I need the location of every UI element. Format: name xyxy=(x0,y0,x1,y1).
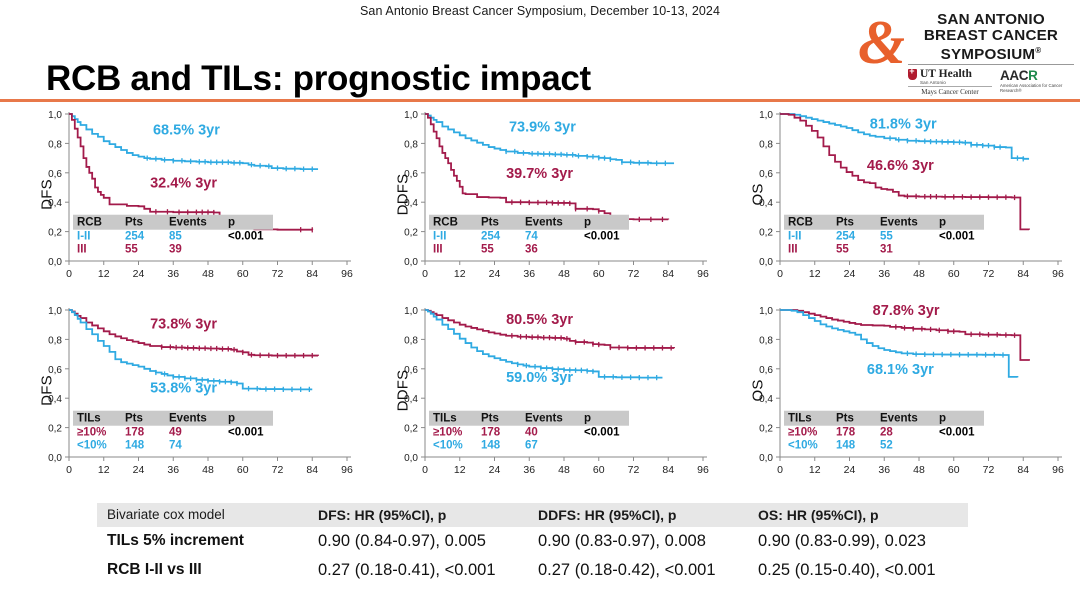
y-tick-label: 0,0 xyxy=(759,453,773,464)
km-plot-ddfs-rcb: 1,00,80,60,40,20,00122436486072849673.9%… xyxy=(403,106,713,296)
y-tick-label: 0,8 xyxy=(48,335,62,346)
x-tick-label: 12 xyxy=(454,464,466,476)
x-tick-label: 48 xyxy=(558,464,570,476)
logo-line-2: BREAST CANCER xyxy=(908,28,1074,44)
header-divider xyxy=(0,99,1080,102)
y-tick-label: 0,2 xyxy=(759,228,773,239)
annotation-3yr-rate: 87.8% 3yr xyxy=(873,303,940,319)
y-tick-label: 0,8 xyxy=(759,139,773,150)
x-tick-label: 36 xyxy=(523,464,535,476)
legend-header-p: p xyxy=(584,217,591,229)
y-tick-label: 0,2 xyxy=(759,424,773,435)
sabcs-logo-text: SAN ANTONIO BREAST CANCER SYMPOSIUM® xyxy=(908,12,1074,63)
legend-cell: 67 xyxy=(525,440,538,452)
legend-cell: <10% xyxy=(788,440,818,452)
sabcs-logo-mark: & xyxy=(858,12,904,78)
legend-header-pts: Pts xyxy=(836,413,854,425)
bivariate-cox-table: Bivariate cox model DFS: HR (95%CI), p D… xyxy=(97,503,968,585)
legend-cell: 148 xyxy=(125,440,145,452)
legend-cell: 178 xyxy=(125,427,145,439)
legend-cell: I-II xyxy=(433,231,446,243)
y-tick-label: 0,0 xyxy=(48,453,62,464)
legend-header-rcb: RCB xyxy=(433,217,458,229)
aacr-logo: AACR American Association for Cancer Res… xyxy=(1000,68,1072,94)
legend-header-pts: Pts xyxy=(836,217,854,229)
legend-cell: 178 xyxy=(481,427,501,439)
col-header-os: OS: HR (95%CI), p xyxy=(748,503,968,527)
x-tick-label: 48 xyxy=(558,268,570,280)
x-tick-label: 60 xyxy=(948,464,960,476)
legend-header-pts: Pts xyxy=(481,217,499,229)
legend-cell: 31 xyxy=(880,244,893,256)
legend-pvalue: <0.001 xyxy=(228,231,264,243)
col-header-model: Bivariate cox model xyxy=(97,503,308,527)
y-tick-label: 1,0 xyxy=(759,306,773,317)
row-label-tils: TILs 5% increment xyxy=(97,527,308,556)
x-tick-label: 24 xyxy=(489,268,501,280)
logo-partners: UT Health San Antonio Mays Cancer Center… xyxy=(908,64,1074,96)
x-tick-label: 96 xyxy=(697,268,709,280)
x-tick-label: 60 xyxy=(237,464,249,476)
legend-header-rcb: RCB xyxy=(788,217,813,229)
x-tick-label: 60 xyxy=(237,268,249,280)
legend-pvalue: <0.001 xyxy=(939,427,975,439)
table-header-row: Bivariate cox model DFS: HR (95%CI), p D… xyxy=(97,503,968,527)
annotation-3yr-rate: 68.1% 3yr xyxy=(867,362,934,378)
km-panel-ddfs-tils: 1,00,80,60,40,20,00122436486072849680.5%… xyxy=(403,302,713,492)
x-tick-label: 72 xyxy=(272,464,284,476)
legend-header-pts: Pts xyxy=(481,413,499,425)
legend-cell: 52 xyxy=(880,440,893,452)
y-tick-label: 0,0 xyxy=(759,257,773,268)
ut-health-center: Mays Cancer Center xyxy=(908,86,992,96)
legend-cell: III xyxy=(788,244,798,256)
cell-tils-dfs: 0.90 (0.84-0.97), 0.005 xyxy=(308,527,528,556)
legend-cell: ≥10% xyxy=(433,427,462,439)
annotation-3yr-rate: 39.7% 3yr xyxy=(506,166,573,182)
x-tick-label: 0 xyxy=(422,268,428,280)
annotation-3yr-rate: 53.8% 3yr xyxy=(150,380,217,396)
aacr-name: AACR xyxy=(1000,68,1072,83)
y-tick-label: 1,0 xyxy=(404,110,418,121)
x-tick-label: 84 xyxy=(306,464,318,476)
legend-header-pts: Pts xyxy=(125,217,143,229)
x-tick-label: 84 xyxy=(1017,268,1029,280)
aacr-tagline: American Association for Cancer Research… xyxy=(1000,83,1072,94)
legend-cell: 254 xyxy=(125,231,145,243)
x-tick-label: 12 xyxy=(454,268,466,280)
legend-cell: 74 xyxy=(525,231,538,243)
legend-header-p: p xyxy=(939,413,946,425)
y-tick-label: 0,0 xyxy=(404,257,418,268)
x-tick-label: 96 xyxy=(1052,268,1064,280)
km-panel-dfs-rcb: 1,00,80,60,40,20,00122436486072849668.5%… xyxy=(47,106,357,296)
y-tick-label: 0,2 xyxy=(48,228,62,239)
x-tick-label: 84 xyxy=(662,464,674,476)
legend-cell: 55 xyxy=(481,244,494,256)
legend-header-tils: TILs xyxy=(433,413,457,425)
y-axis-label-os-tils: OS xyxy=(750,361,767,421)
ut-health-name: UT Health xyxy=(920,68,972,80)
annotation-3yr-rate: 68.5% 3yr xyxy=(153,123,220,139)
x-tick-label: 0 xyxy=(66,268,72,280)
km-panel-os-tils: 1,00,80,60,40,20,00122436486072849687.8%… xyxy=(758,302,1068,492)
x-tick-label: 36 xyxy=(523,268,535,280)
y-tick-label: 1,0 xyxy=(48,110,62,121)
annotation-3yr-rate: 46.6% 3yr xyxy=(867,158,934,174)
legend-header-tils: TILs xyxy=(788,413,812,425)
km-plot-os-rcb: 1,00,80,60,40,20,00122436486072849681.8%… xyxy=(758,106,1068,296)
y-axis-label-ddfs-rcb: DDFS xyxy=(395,165,412,225)
x-tick-label: 96 xyxy=(697,464,709,476)
table-row: RCB I-II vs III 0.27 (0.18-0.41), <0.001… xyxy=(97,556,968,585)
legend-pvalue: <0.001 xyxy=(584,231,620,243)
legend-cell: 55 xyxy=(880,231,893,243)
legend-cell: <10% xyxy=(77,440,107,452)
col-header-dfs: DFS: HR (95%CI), p xyxy=(308,503,528,527)
x-tick-label: 60 xyxy=(948,268,960,280)
y-tick-label: 0,8 xyxy=(759,335,773,346)
x-tick-label: 0 xyxy=(777,268,783,280)
y-tick-label: 1,0 xyxy=(759,110,773,121)
y-tick-label: 0,8 xyxy=(404,139,418,150)
legend-dfs-rcb: RCBPtsEventspI-II25485<0.001III5539 xyxy=(73,215,273,256)
x-tick-label: 24 xyxy=(489,464,501,476)
x-tick-label: 84 xyxy=(1017,464,1029,476)
table-row: TILs 5% increment 0.90 (0.84-0.97), 0.00… xyxy=(97,527,968,556)
legend-cell: 28 xyxy=(880,427,893,439)
x-tick-label: 12 xyxy=(809,268,821,280)
legend-header-events: Events xyxy=(880,413,918,425)
y-axis-label-dfs-tils: DFS xyxy=(39,361,56,421)
legend-ddfs-tils: TILsPtsEventsp≥10%17840<0.001<10%14867 xyxy=(429,411,629,452)
x-tick-label: 24 xyxy=(133,464,145,476)
x-tick-label: 72 xyxy=(272,268,284,280)
legend-header-events: Events xyxy=(525,413,563,425)
annotation-3yr-rate: 59.0% 3yr xyxy=(506,370,573,386)
km-plot-dfs-rcb: 1,00,80,60,40,20,00122436486072849668.5%… xyxy=(47,106,357,296)
legend-cell: 148 xyxy=(481,440,501,452)
x-tick-label: 48 xyxy=(913,464,925,476)
y-tick-label: 0,0 xyxy=(48,257,62,268)
km-plot-ddfs-tils: 1,00,80,60,40,20,00122436486072849680.5%… xyxy=(403,302,713,492)
legend-os-rcb: RCBPtsEventspI-II25455<0.001III5531 xyxy=(784,215,984,256)
x-tick-label: 60 xyxy=(593,464,605,476)
annotation-3yr-rate: 81.8% 3yr xyxy=(870,117,937,133)
annotation-3yr-rate: 32.4% 3yr xyxy=(150,176,217,192)
legend-cell: III xyxy=(433,244,443,256)
x-tick-label: 36 xyxy=(167,268,179,280)
legend-cell: I-II xyxy=(77,231,90,243)
x-tick-label: 72 xyxy=(983,268,995,280)
legend-header-events: Events xyxy=(880,217,918,229)
x-tick-label: 24 xyxy=(844,268,856,280)
x-tick-label: 12 xyxy=(98,464,110,476)
legend-cell: 254 xyxy=(481,231,501,243)
legend-cell: ≥10% xyxy=(788,427,817,439)
cell-tils-os: 0.90 (0.83-0.99), 0.023 xyxy=(748,527,968,556)
slide-root: San Antonio Breast Cancer Symposium, Dec… xyxy=(0,0,1080,595)
cell-tils-ddfs: 0.90 (0.83-0.97), 0.008 xyxy=(528,527,748,556)
km-plot-os-tils: 1,00,80,60,40,20,00122436486072849687.8%… xyxy=(758,302,1068,492)
x-tick-label: 36 xyxy=(167,464,179,476)
legend-cell: 178 xyxy=(836,427,856,439)
x-tick-label: 60 xyxy=(593,268,605,280)
x-tick-label: 72 xyxy=(628,268,640,280)
legend-header-p: p xyxy=(584,413,591,425)
x-tick-label: 48 xyxy=(202,464,214,476)
legend-pvalue: <0.001 xyxy=(228,427,264,439)
y-tick-label: 0,8 xyxy=(48,139,62,150)
x-tick-label: 12 xyxy=(98,268,110,280)
legend-header-pts: Pts xyxy=(125,413,143,425)
x-tick-label: 24 xyxy=(844,464,856,476)
x-tick-label: 36 xyxy=(878,268,890,280)
annotation-3yr-rate: 80.5% 3yr xyxy=(506,312,573,328)
y-tick-label: 0,2 xyxy=(404,228,418,239)
legend-cell: 85 xyxy=(169,231,182,243)
legend-header-rcb: RCB xyxy=(77,217,102,229)
legend-header-p: p xyxy=(228,217,235,229)
y-axis-label-os-rcb: OS xyxy=(750,165,767,225)
legend-cell: 254 xyxy=(836,231,856,243)
legend-dfs-tils: TILsPtsEventsp≥10%17849<0.001<10%14874 xyxy=(73,411,273,452)
legend-cell: 55 xyxy=(125,244,138,256)
legend-cell: 55 xyxy=(836,244,849,256)
sabcs-logo: & SAN ANTONIO BREAST CANCER SYMPOSIUM® U… xyxy=(856,10,1074,94)
logo-line-1: SAN ANTONIO xyxy=(908,12,1074,28)
legend-cell: ≥10% xyxy=(77,427,106,439)
cell-rcb-os: 0.25 (0.15-0.40), <0.001 xyxy=(748,556,968,585)
x-tick-label: 96 xyxy=(1052,464,1064,476)
x-tick-label: 84 xyxy=(662,268,674,280)
cell-rcb-ddfs: 0.27 (0.18-0.42), <0.001 xyxy=(528,556,748,585)
x-tick-label: 0 xyxy=(777,464,783,476)
x-tick-label: 36 xyxy=(878,464,890,476)
legend-header-tils: TILs xyxy=(77,413,101,425)
x-tick-label: 24 xyxy=(133,268,145,280)
legend-cell: 36 xyxy=(525,244,538,256)
y-tick-label: 1,0 xyxy=(404,306,418,317)
annotation-3yr-rate: 73.9% 3yr xyxy=(509,120,576,136)
x-tick-label: 96 xyxy=(341,268,353,280)
y-tick-label: 0,2 xyxy=(48,424,62,435)
legend-cell: 74 xyxy=(169,440,182,452)
legend-cell: III xyxy=(77,244,87,256)
x-tick-label: 96 xyxy=(341,464,353,476)
legend-pvalue: <0.001 xyxy=(939,231,975,243)
x-tick-label: 72 xyxy=(628,464,640,476)
x-tick-label: 48 xyxy=(202,268,214,280)
legend-header-p: p xyxy=(228,413,235,425)
legend-cell: 39 xyxy=(169,244,182,256)
row-label-rcb: RCB I-II vs III xyxy=(97,556,308,585)
x-tick-label: 72 xyxy=(983,464,995,476)
legend-ddfs-rcb: RCBPtsEventspI-II25474<0.001III5536 xyxy=(429,215,629,256)
annotation-3yr-rate: 73.8% 3yr xyxy=(150,316,217,332)
km-panel-dfs-tils: 1,00,80,60,40,20,00122436486072849673.8%… xyxy=(47,302,357,492)
y-axis-label-ddfs-tils: DDFS xyxy=(395,361,412,421)
km-panel-os-rcb: 1,00,80,60,40,20,00122436486072849681.8%… xyxy=(758,106,1068,296)
x-tick-label: 0 xyxy=(66,464,72,476)
legend-cell: 40 xyxy=(525,427,538,439)
y-axis-label-dfs-rcb: DFS xyxy=(39,165,56,225)
x-tick-label: 48 xyxy=(913,268,925,280)
y-tick-label: 0,2 xyxy=(404,424,418,435)
ut-health-logo: UT Health San Antonio Mays Cancer Center xyxy=(908,68,992,96)
page-title: RCB and TILs: prognostic impact xyxy=(46,59,591,99)
col-header-ddfs: DDFS: HR (95%CI), p xyxy=(528,503,748,527)
x-tick-label: 12 xyxy=(809,464,821,476)
legend-cell: 148 xyxy=(836,440,856,452)
ut-health-city: San Antonio xyxy=(920,80,992,85)
x-tick-label: 0 xyxy=(422,464,428,476)
y-tick-label: 1,0 xyxy=(48,306,62,317)
legend-header-p: p xyxy=(939,217,946,229)
y-tick-label: 0,8 xyxy=(404,335,418,346)
legend-os-tils: TILsPtsEventsp≥10%17828<0.001<10%14852 xyxy=(784,411,984,452)
logo-line-3: SYMPOSIUM® xyxy=(908,43,1074,63)
legend-header-events: Events xyxy=(525,217,563,229)
legend-pvalue: <0.001 xyxy=(584,427,620,439)
km-panel-ddfs-rcb: 1,00,80,60,40,20,00122436486072849673.9%… xyxy=(403,106,713,296)
y-tick-label: 0,0 xyxy=(404,453,418,464)
km-plot-dfs-tils: 1,00,80,60,40,20,00122436486072849673.8%… xyxy=(47,302,357,492)
legend-cell: <10% xyxy=(433,440,463,452)
legend-cell: 49 xyxy=(169,427,182,439)
x-tick-label: 84 xyxy=(306,268,318,280)
cell-rcb-dfs: 0.27 (0.18-0.41), <0.001 xyxy=(308,556,528,585)
shield-icon xyxy=(908,69,917,80)
legend-header-events: Events xyxy=(169,413,207,425)
legend-cell: I-II xyxy=(788,231,801,243)
legend-header-events: Events xyxy=(169,217,207,229)
